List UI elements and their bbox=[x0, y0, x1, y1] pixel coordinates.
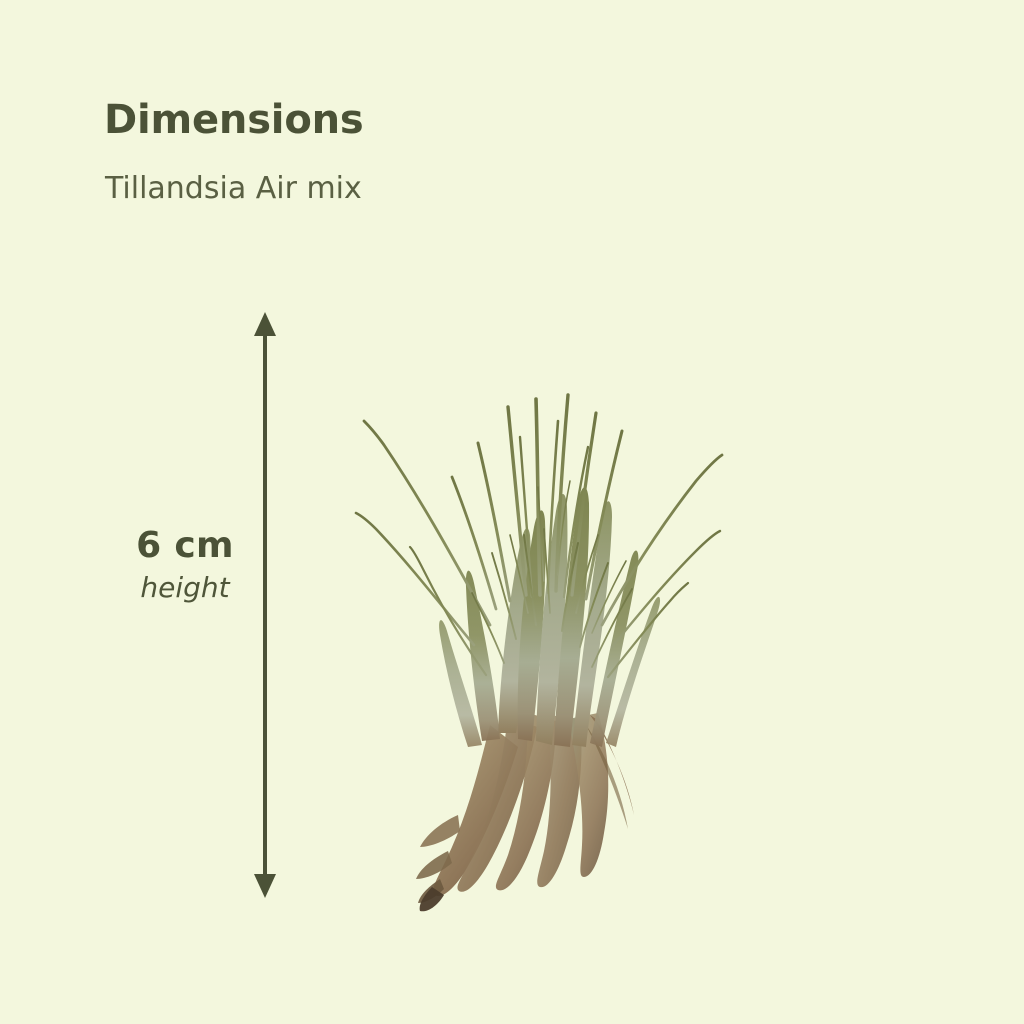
page-title: Dimensions bbox=[104, 99, 364, 141]
plant-mid-leaves bbox=[439, 487, 660, 747]
measure-value-label: 6 cm bbox=[60, 525, 310, 567]
page-subtitle: Tillandsia Air mix bbox=[105, 173, 362, 205]
measure-caption-label: height bbox=[60, 571, 310, 605]
measure-label-group: 6 cm height bbox=[60, 525, 310, 605]
dimensions-infographic: Dimensions Tillandsia Air mix 6 cm heigh… bbox=[0, 0, 1024, 1024]
tillandsia-plant-image bbox=[340, 295, 740, 915]
